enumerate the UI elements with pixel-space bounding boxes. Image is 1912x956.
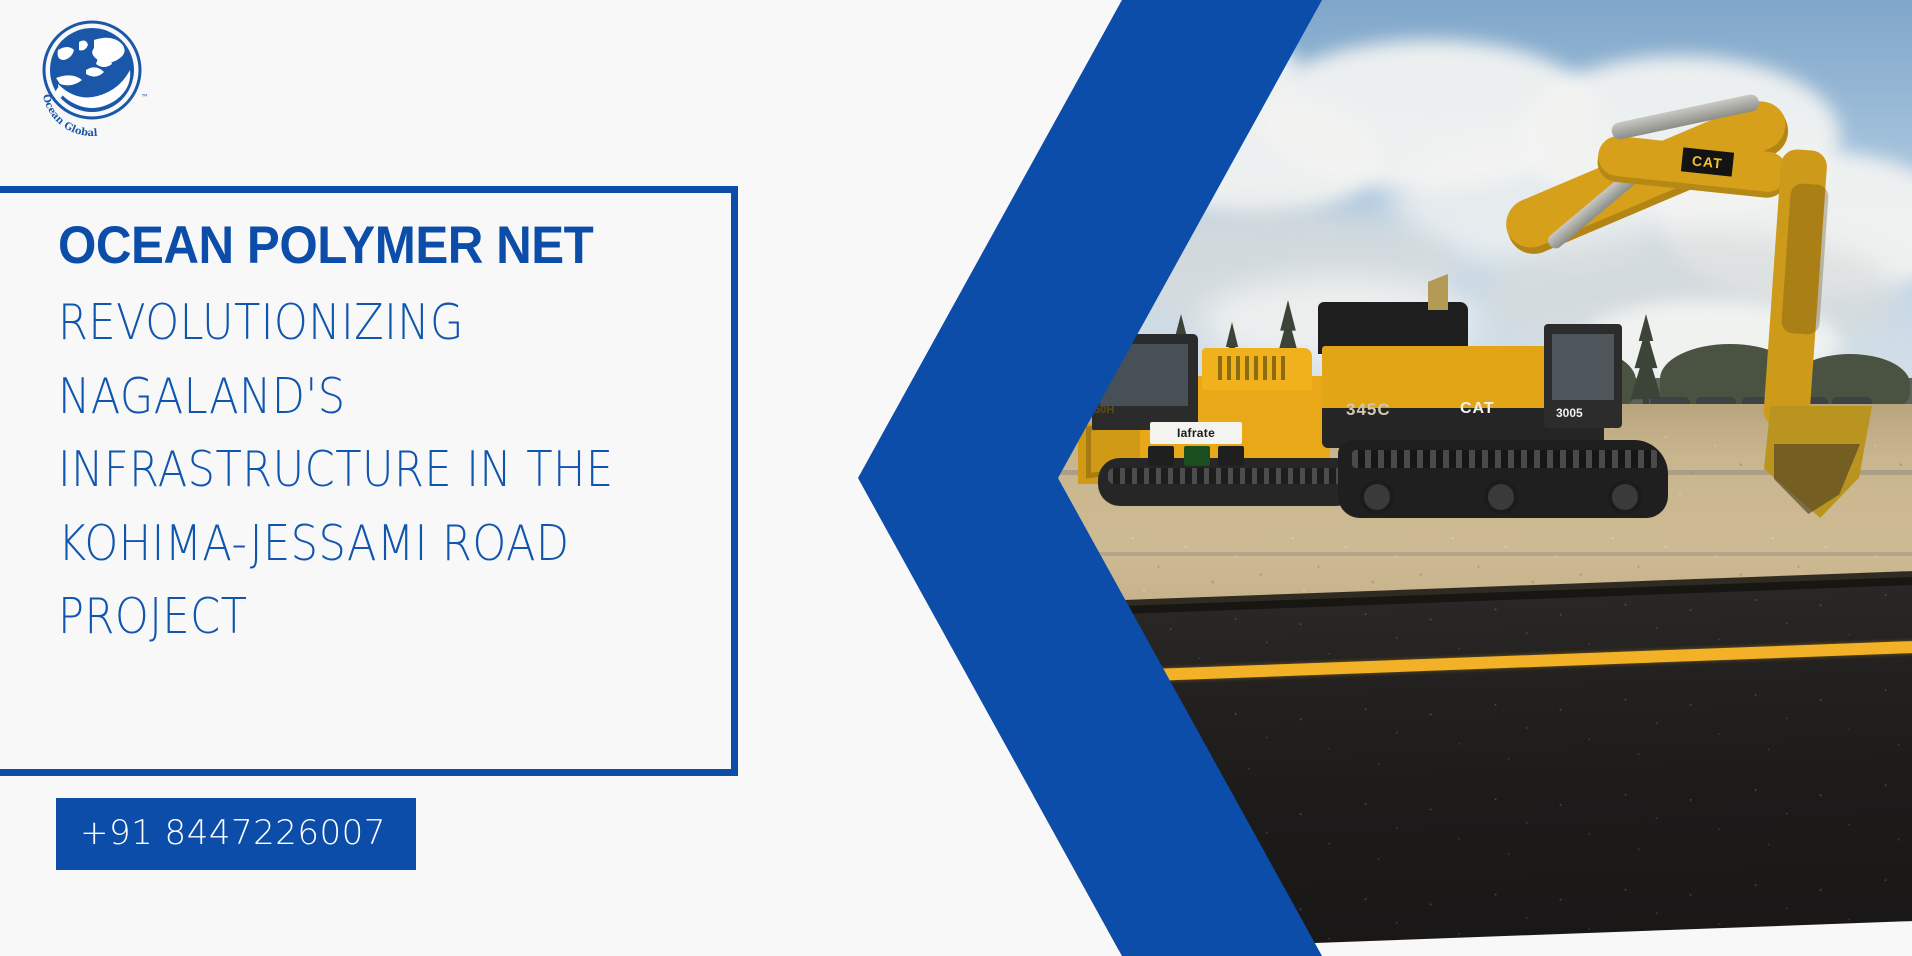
phone-number-badge[interactable]: +91 8447226007 bbox=[56, 798, 416, 870]
left-content-panel: Ocean Global ™ OCEAN POLYMER NET REVOLUT… bbox=[0, 0, 960, 956]
ocean-global-logo[interactable]: Ocean Global ™ bbox=[22, 12, 162, 152]
excavator: CAT 345C CAT 3005 bbox=[1312, 88, 1912, 568]
construction-site-photo: 450H Iafrate CAT bbox=[960, 0, 1912, 956]
dozer-brand-decal: Iafrate bbox=[1150, 422, 1242, 444]
subtitle-line-5: PROJECT bbox=[58, 580, 639, 654]
excavator-brand-label: CAT bbox=[1460, 400, 1495, 418]
headline-text-block: OCEAN POLYMER NET REVOLUTIONIZING NAGALA… bbox=[58, 218, 718, 654]
trademark-symbol: ™ bbox=[141, 93, 149, 102]
page-subtitle: REVOLUTIONIZING NAGALAND'S INFRASTRUCTUR… bbox=[58, 286, 639, 654]
page-title: OCEAN POLYMER NET bbox=[58, 218, 672, 274]
subtitle-line-4: KOHIMA-JESSAMI ROAD bbox=[58, 507, 639, 581]
subtitle-line-2: NAGALAND'S bbox=[58, 360, 639, 434]
asphalt-road bbox=[960, 577, 1912, 956]
promotional-banner: 450H Iafrate CAT bbox=[0, 0, 1912, 956]
excavator-alt-model-label: 3005 bbox=[1556, 406, 1583, 420]
cat-boom-logo: CAT bbox=[1681, 147, 1734, 176]
subtitle-line-3: INFRASTRUCTURE IN THE bbox=[58, 433, 639, 507]
excavator-model-label: 345C bbox=[1346, 400, 1391, 420]
dozer-model-label: 450H bbox=[1088, 404, 1114, 416]
subtitle-line-1: REVOLUTIONIZING bbox=[58, 286, 639, 360]
